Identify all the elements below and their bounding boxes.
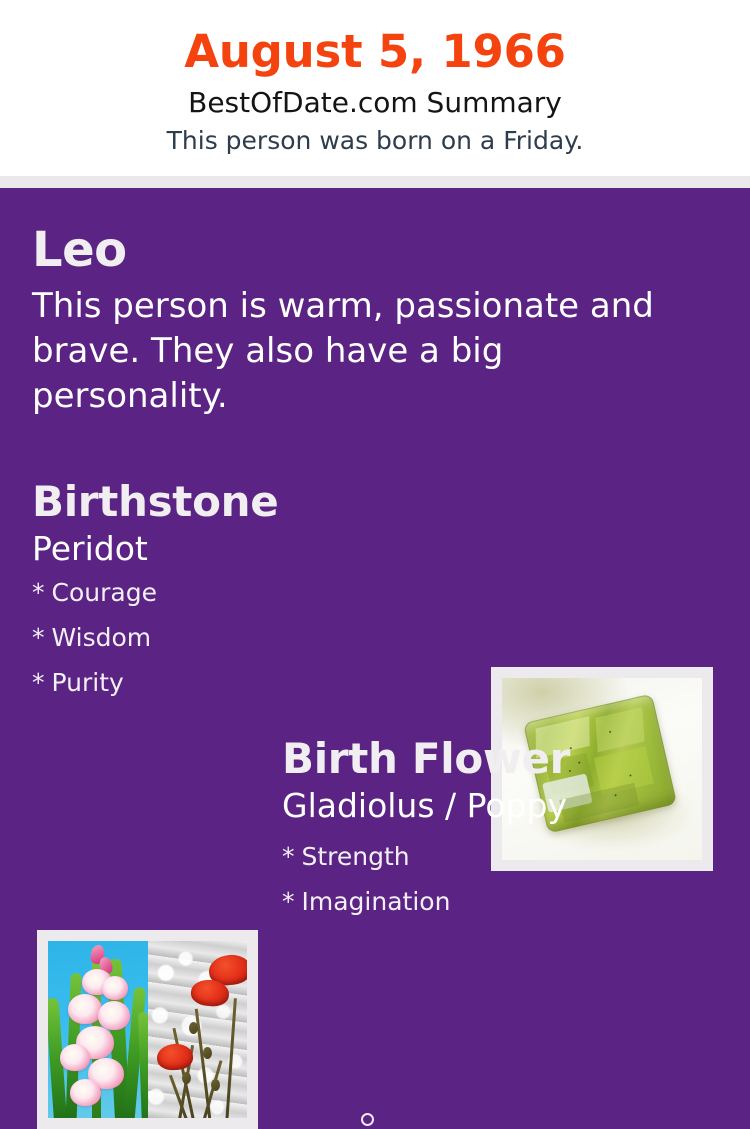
birth-flower-section: Birth Flower Gladiolus / Poppy *Strength… xyxy=(282,733,722,924)
birth-flower-heading: Birth Flower xyxy=(282,733,722,785)
bullet-star-icon: * xyxy=(32,578,45,607)
gladiolus-bloom xyxy=(70,1079,101,1106)
gladiolus-bloom xyxy=(68,994,102,1024)
bullet-star-icon: * xyxy=(32,668,45,697)
birth-flower-trait-label: Strength xyxy=(302,842,410,871)
bullet-star-icon: * xyxy=(282,842,295,871)
birthstone-section: Birthstone Peridot *Courage *Wisdom *Pur… xyxy=(32,476,462,705)
birthstone-name: Peridot xyxy=(32,528,462,570)
zodiac-sign-name: Leo xyxy=(32,221,692,279)
cursor-ring-indicator xyxy=(361,1113,374,1126)
poppy-bud xyxy=(182,1072,191,1084)
page-title-date: August 5, 1966 xyxy=(0,22,750,82)
bullet-star-icon: * xyxy=(32,623,45,652)
poppy-bud xyxy=(203,1047,212,1059)
weekday-statement: This person was born on a Friday. xyxy=(0,124,750,158)
poppy-photo-half xyxy=(148,941,248,1118)
birthstone-trait: *Courage xyxy=(32,570,462,615)
gladiolus-bloom xyxy=(98,1001,130,1030)
birth-flower-image-frame xyxy=(37,930,258,1129)
poppy-bud xyxy=(211,1079,220,1091)
birthstone-trait-label: Purity xyxy=(52,668,124,697)
gladiolus-bloom xyxy=(102,976,128,1000)
site-name-summary: BestOfDate.com Summary xyxy=(0,83,750,123)
gladiolus-leaf xyxy=(137,1012,147,1118)
birthstone-trait: *Purity xyxy=(32,660,462,705)
birthstone-trait-label: Courage xyxy=(52,578,157,607)
gladiolus-poppy-photo xyxy=(48,941,247,1118)
birth-flower-trait-label: Imagination xyxy=(302,887,451,916)
bullet-star-icon: * xyxy=(282,887,295,916)
birth-flower-trait: *Strength xyxy=(282,834,722,879)
birth-flower-name: Gladiolus / Poppy xyxy=(282,785,722,827)
page-header: August 5, 1966 BestOfDate.com Summary Th… xyxy=(0,0,750,176)
birthstone-heading: Birthstone xyxy=(32,476,462,528)
birthstone-trait: *Wisdom xyxy=(32,615,462,660)
birth-flower-traits: *Strength *Imagination xyxy=(282,834,722,924)
gladiolus-bloom xyxy=(60,1044,90,1071)
birth-flower-trait: *Imagination xyxy=(282,879,722,924)
header-divider xyxy=(0,176,750,188)
zodiac-section: Leo This person is warm, passionate and … xyxy=(32,221,692,419)
poppy-stem xyxy=(225,998,237,1118)
zodiac-description: This person is warm, passionate and brav… xyxy=(32,284,677,419)
birthstone-trait-label: Wisdom xyxy=(52,623,152,652)
gladiolus-photo-half xyxy=(48,941,148,1118)
summary-panel: Leo This person is warm, passionate and … xyxy=(0,188,750,1000)
birth-flower-image xyxy=(48,941,247,1118)
